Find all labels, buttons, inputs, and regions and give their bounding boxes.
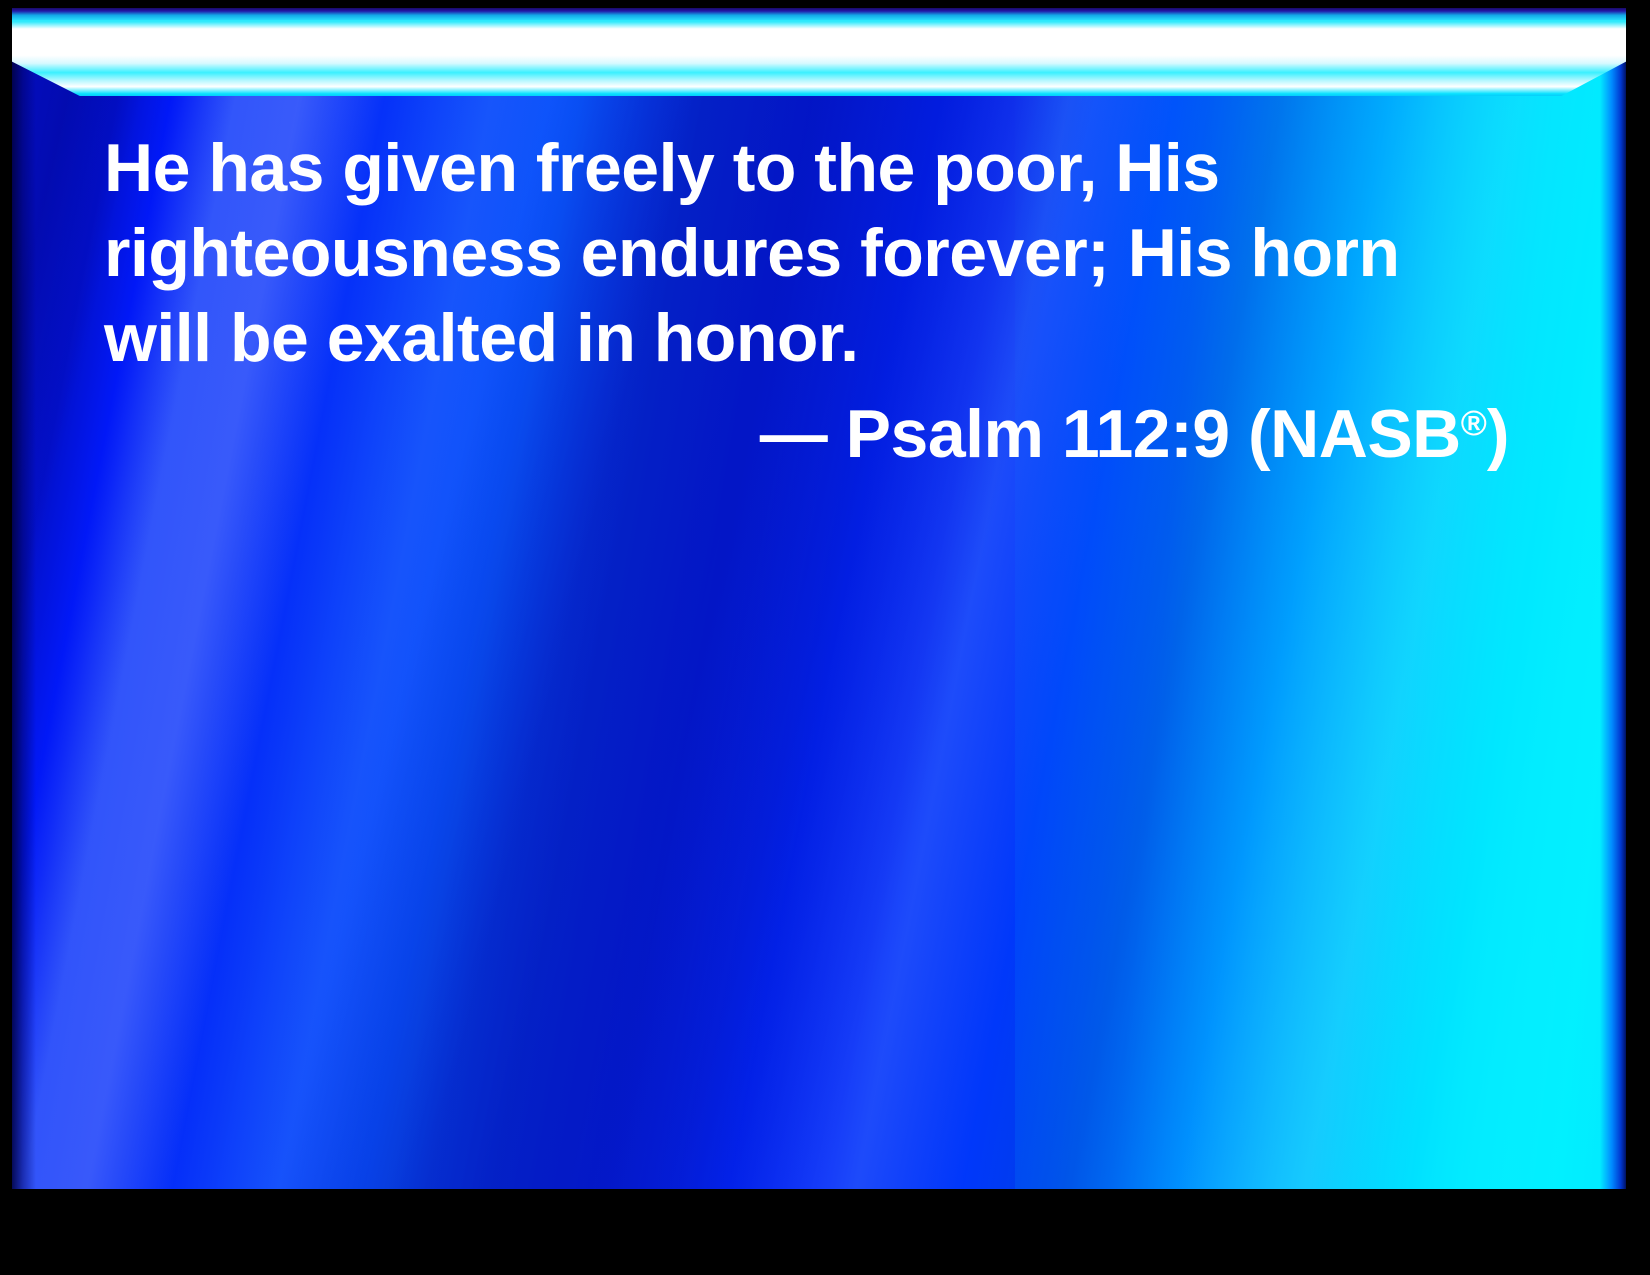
top-light-band — [12, 8, 1626, 100]
attribution-dash: — — [760, 396, 828, 472]
registered-trademark-icon: ® — [1461, 404, 1487, 443]
background-left-edge-shade — [12, 8, 36, 1232]
verse-attribution: — Psalm 112:9 (NASB®) — [104, 381, 1509, 477]
top-band-hairline — [12, 8, 1626, 20]
attribution-translation-open: (NASB — [1248, 396, 1461, 472]
slide-artboard: He has given freely to the poor, His rig… — [12, 8, 1626, 1232]
attribution-translation-close: ) — [1487, 396, 1509, 472]
attribution-reference: Psalm 112:9 — [846, 396, 1230, 472]
verse-text: He has given freely to the poor, His rig… — [104, 126, 1504, 381]
verse-slide: He has given freely to the poor, His rig… — [0, 0, 1650, 1275]
top-light-band-shape — [12, 18, 1626, 96]
bottom-black-bar — [12, 1189, 1626, 1232]
background-right-edge-shade — [1600, 8, 1626, 1232]
